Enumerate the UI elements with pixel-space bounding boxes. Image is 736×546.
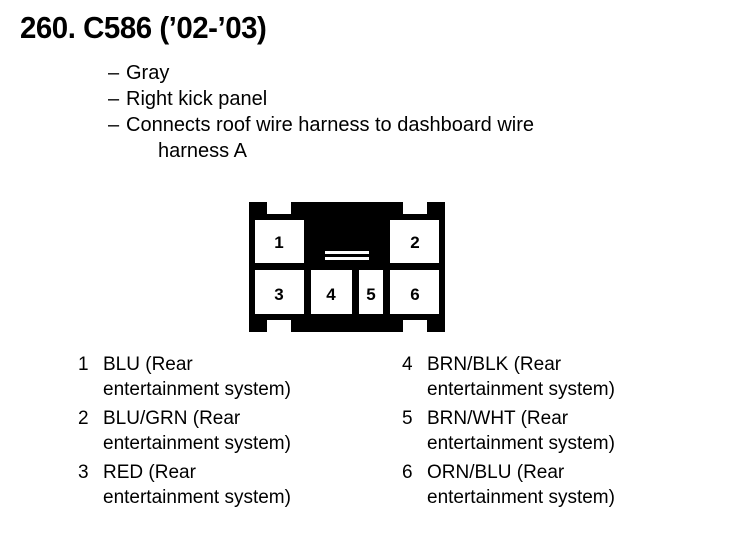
legend-description: RED (Rear entertainment system) <box>103 460 412 510</box>
legend-index: 4 <box>402 352 427 377</box>
wire-legend-column-left: 1 BLU (Rear entertainment system) 2 BLU/… <box>78 352 412 514</box>
legend-description-line1: BRN/WHT (Rear <box>427 406 736 431</box>
cavity-number-1: 1 <box>274 233 283 252</box>
description-text: Right kick panel <box>126 86 267 112</box>
legend-index: 3 <box>78 460 103 485</box>
legend-item: 1 BLU (Rear entertainment system) <box>78 352 412 402</box>
legend-description: BLU (Rear entertainment system) <box>103 352 412 402</box>
cavity-number-5: 5 <box>366 285 375 304</box>
center-latch-tab <box>321 246 373 266</box>
legend-description-line1: BLU (Rear <box>103 352 412 377</box>
description-item: – Gray <box>108 60 668 86</box>
bottom-row-divider-2 <box>352 266 359 322</box>
legend-description-line2: entertainment system) <box>103 431 412 456</box>
legend-index: 2 <box>78 406 103 431</box>
legend-description: BRN/WHT (Rear entertainment system) <box>427 406 736 456</box>
top-row-divider-left <box>304 208 311 266</box>
legend-item: 5 BRN/WHT (Rear entertainment system) <box>402 406 736 456</box>
legend-description: ORN/BLU (Rear entertainment system) <box>427 460 736 510</box>
wire-legend-column-right: 4 BRN/BLK (Rear entertainment system) 5 … <box>402 352 736 514</box>
legend-description-line1: RED (Rear <box>103 460 412 485</box>
legend-description-line1: BRN/BLK (Rear <box>427 352 736 377</box>
legend-item: 6 ORN/BLU (Rear entertainment system) <box>402 460 736 510</box>
legend-item: 2 BLU/GRN (Rear entertainment system) <box>78 406 412 456</box>
legend-description-line1: BLU/GRN (Rear <box>103 406 412 431</box>
legend-description-line2: entertainment system) <box>103 377 412 402</box>
bottom-row-divider-1 <box>304 266 311 322</box>
description-text: Connects roof wire harness to dashboard … <box>126 112 534 138</box>
legend-description-line1: ORN/BLU (Rear <box>427 460 736 485</box>
cavity-number-3: 3 <box>274 285 283 304</box>
legend-description-line2: entertainment system) <box>427 377 736 402</box>
dash-icon: – <box>108 60 126 86</box>
legend-item: 4 BRN/BLK (Rear entertainment system) <box>402 352 736 402</box>
cavity-number-4: 4 <box>326 285 336 304</box>
description-item: – Connects roof wire harness to dashboar… <box>108 112 668 138</box>
top-row-divider-right <box>383 208 390 266</box>
dash-icon: – <box>108 86 126 112</box>
legend-item: 3 RED (Rear entertainment system) <box>78 460 412 510</box>
legend-description-line2: entertainment system) <box>427 431 736 456</box>
legend-description-line2: entertainment system) <box>103 485 412 510</box>
legend-index: 5 <box>402 406 427 431</box>
description-item: – Right kick panel <box>108 86 668 112</box>
cavity-number-6: 6 <box>410 285 419 304</box>
bottom-row-divider-3 <box>383 266 390 322</box>
cavity-number-2: 2 <box>410 233 419 252</box>
connector-description-list: – Gray – Right kick panel – Connects roo… <box>108 60 668 164</box>
description-text-continuation: harness A <box>108 138 668 164</box>
legend-description: BRN/BLK (Rear entertainment system) <box>427 352 736 402</box>
legend-description-line2: entertainment system) <box>427 485 736 510</box>
description-text: Gray <box>126 60 169 86</box>
legend-index: 6 <box>402 460 427 485</box>
connector-diagram: 1 2 3 4 5 6 <box>247 200 447 334</box>
page-title: 260. C586 (’02-’03) <box>20 10 266 46</box>
dash-icon: – <box>108 112 126 138</box>
legend-description: BLU/GRN (Rear entertainment system) <box>103 406 412 456</box>
wire-legend: 1 BLU (Rear entertainment system) 2 BLU/… <box>0 352 736 514</box>
legend-index: 1 <box>78 352 103 377</box>
